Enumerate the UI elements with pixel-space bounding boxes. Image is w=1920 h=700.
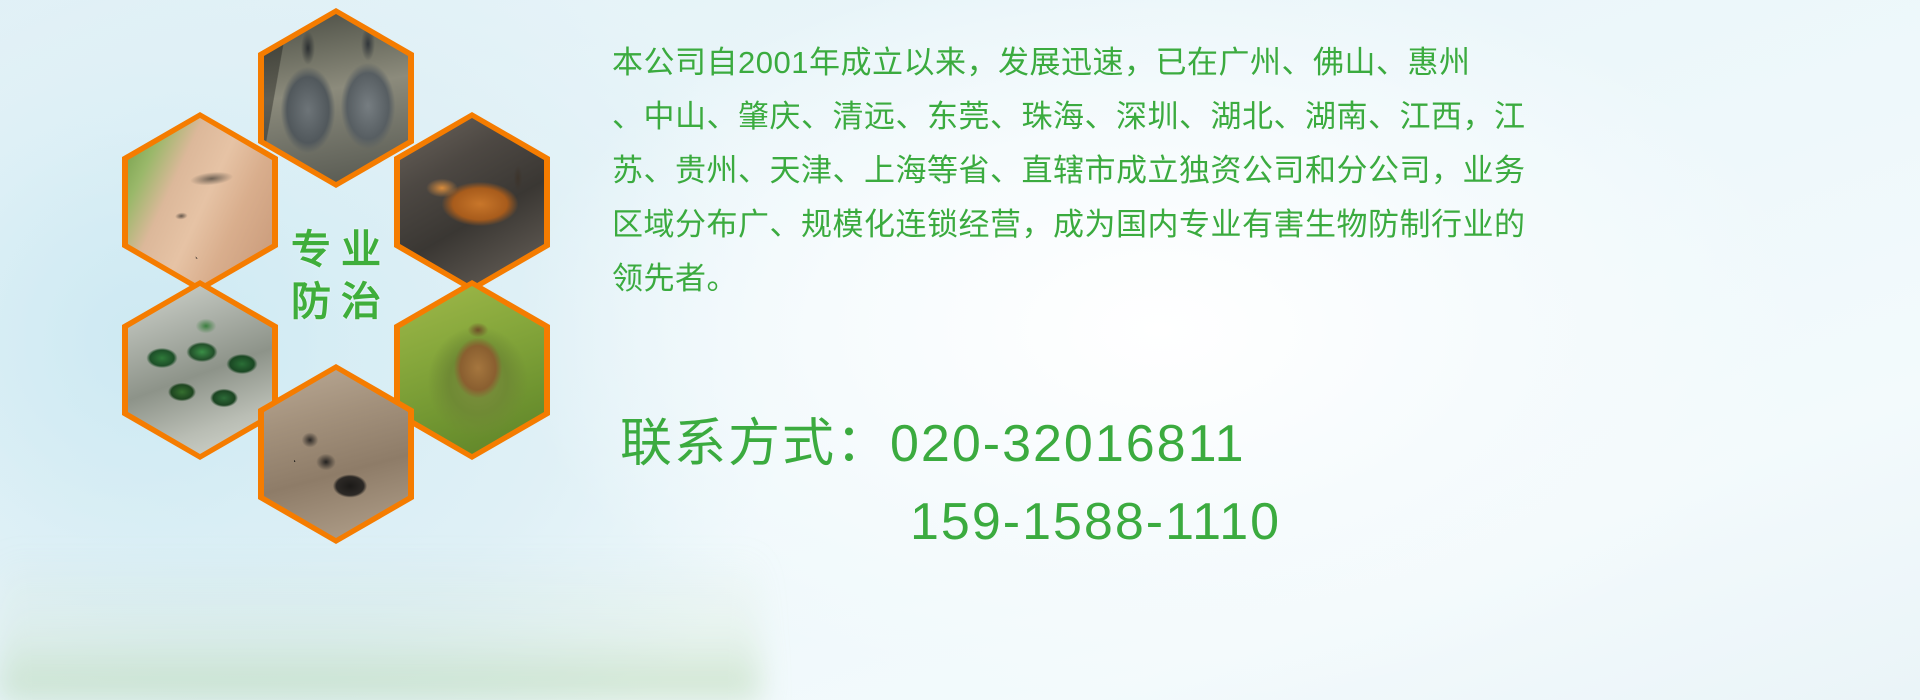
rats-image	[264, 14, 408, 182]
contact-primary-line[interactable]: 联系方式：020-32016811	[620, 405, 1920, 483]
rats-photo-frame	[264, 14, 408, 182]
mosquito-photo-frame	[128, 118, 272, 286]
flies-photo	[122, 280, 278, 460]
contact-block: 联系方式：020-32016811 159-1588-1110	[620, 405, 1920, 561]
stinkbug-photo	[394, 280, 550, 460]
mosquito-photo	[122, 112, 278, 292]
flies-photo-frame	[128, 286, 272, 454]
cockroach-photo	[394, 112, 550, 292]
service-badge-line2: 防治	[281, 281, 391, 323]
intro-line-1: 本公司自2001年成立以来，发展迅速，已在广州、佛山、惠州	[612, 36, 1902, 90]
intro-line-5: 领先者。	[612, 252, 1902, 306]
mosquito-image	[128, 118, 272, 286]
flies-image	[128, 286, 272, 454]
intro-line-2: 、中山、肇庆、清远、东莞、珠海、深圳、湖北、湖南、江西，江	[612, 90, 1902, 144]
ant-photo-frame	[264, 370, 408, 538]
promo-banner: 专业 防治 本公司自2001年成立以来，发展迅速，已在广州、佛山、惠州 、中山、…	[0, 0, 1920, 700]
intro-line-3: 苏、贵州、天津、上海等省、直辖市成立独资公司和分公司，业务	[612, 144, 1902, 198]
rats-photo	[258, 8, 414, 188]
cockroach-image	[400, 118, 544, 286]
stinkbug-image	[400, 286, 544, 454]
cockroach-photo-frame	[400, 118, 544, 286]
service-badge-line1: 专业	[281, 229, 391, 271]
company-intro: 本公司自2001年成立以来，发展迅速，已在广州、佛山、惠州 、中山、肇庆、清远、…	[612, 36, 1902, 306]
intro-line-4: 区域分布广、规模化连锁经营，成为国内专业有害生物防制行业的	[612, 198, 1902, 252]
contact-secondary-line[interactable]: 159-1588-1110	[620, 483, 1920, 561]
ant-image	[264, 370, 408, 538]
service-badge: 专业 防治	[258, 186, 414, 366]
ant-photo	[258, 364, 414, 544]
hex-photo-cluster: 专业 防治	[86, 8, 586, 556]
stinkbug-photo-frame	[400, 286, 544, 454]
